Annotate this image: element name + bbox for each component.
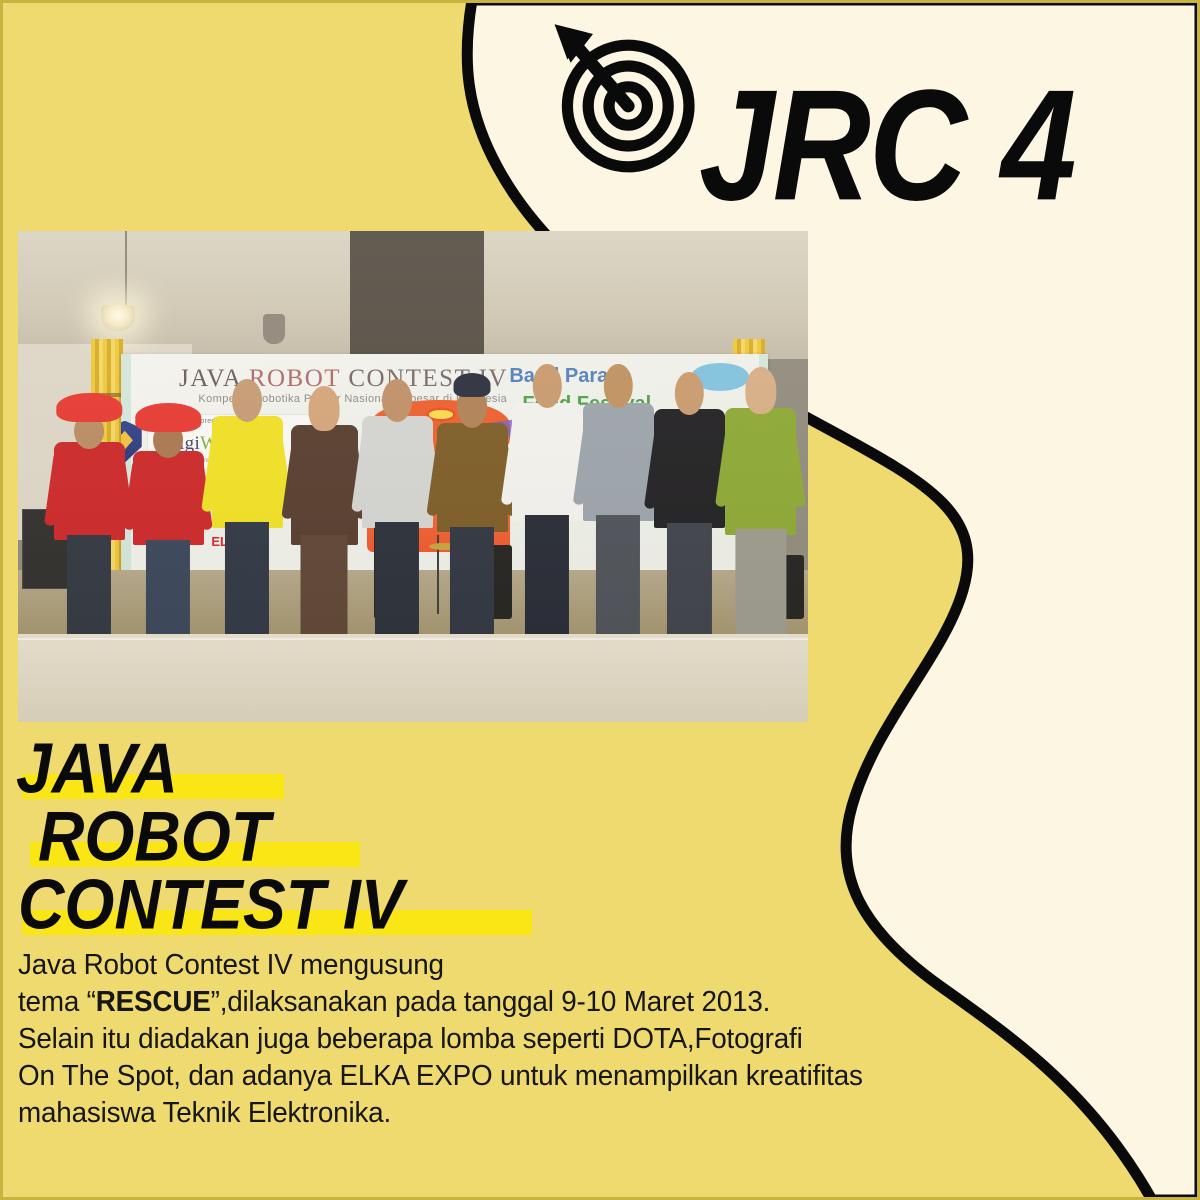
headline-line-1: JAVA [16,735,756,803]
target-bullseye-arrow-icon [545,18,705,178]
jrc-wordmark: JRC 4 [699,66,1075,224]
poster-canvas: JRC 4 JAVA ROBOT CONTEST IV Kompetis [0,0,1200,1200]
headline-text-1: JAVA [16,731,178,807]
headline-line-2: ROBOT [16,803,756,871]
person-figure [54,388,125,634]
description-theme-rescue: RESCUE [96,986,211,1018]
headline-line-3: CONTEST IV [16,871,756,939]
jrc-logo: JRC 4 [545,14,1185,214]
description-line-2-post: ”,dilaksanakan pada tanggal 9-10 Maret 2… [211,986,771,1018]
person-figure [362,369,433,634]
person-figure [133,393,204,634]
person-figure [583,359,654,634]
poster-description: Java Robot Contest IV mengusung tema “RE… [18,947,863,1132]
person-figure [725,359,796,634]
headline-text-2: ROBOT [38,799,270,875]
description-line-3: Selain itu diadakan juga beberapa lomba … [18,1021,863,1058]
description-line-5: mahasiswa Teknik Elektronika. [18,1095,863,1132]
person-figure [291,373,358,633]
person-figure [654,364,725,634]
description-line-2-pre: tema “ [18,986,96,1018]
ceiling-lamp [101,305,135,331]
description-line-4: On The Spot, dan adanya ELKA EXPO untuk … [18,1058,863,1095]
person-figure [437,373,508,633]
person-figure [512,359,583,634]
event-photo: JAVA ROBOT CONTEST IV Kompetisi Robotika… [18,231,808,722]
headline-text-3: CONTEST IV [18,867,404,943]
description-line-1: Java Robot Contest IV mengusung [18,947,863,984]
poster-headline: JAVA ROBOT CONTEST IV [16,735,756,939]
person-figure [212,369,283,634]
description-line-2: tema “RESCUE”,dilaksanakan pada tanggal … [18,984,863,1021]
